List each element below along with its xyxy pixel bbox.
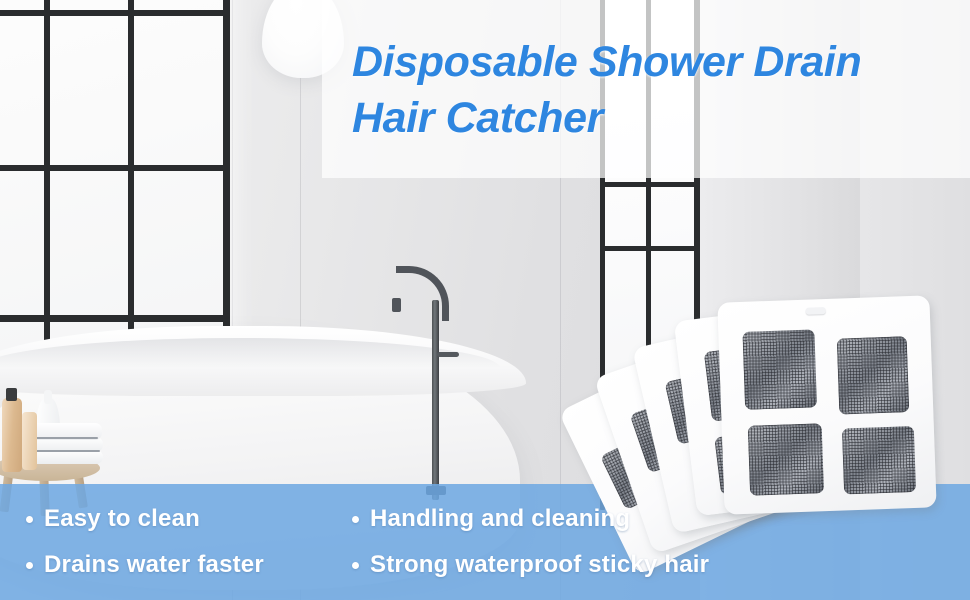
window-mullion-horizontal — [0, 10, 230, 16]
bullet-dot-icon — [352, 562, 359, 569]
window-mullion-horizontal — [0, 165, 230, 171]
vase-neck — [44, 390, 52, 404]
toiletry-bottle-cap — [6, 388, 17, 401]
feature-item: Handling and cleaning — [352, 505, 952, 533]
feature-item: Drains water faster — [26, 551, 338, 579]
window-mullion-horizontal — [0, 315, 230, 322]
window-mullion-horizontal — [600, 182, 700, 187]
product-banner: Disposable Shower Drain Hair Catcher — [0, 0, 970, 600]
toiletry-bottle — [22, 412, 37, 470]
bullet-dot-icon — [26, 516, 33, 523]
window-mullion-horizontal — [600, 246, 700, 251]
feature-list: Easy to clean Drains water faster Handli… — [0, 484, 970, 600]
feature-item: Easy to clean — [26, 505, 338, 533]
toiletry-bottle — [2, 398, 22, 472]
feature-column-right: Handling and cleaning Strong waterproof … — [338, 484, 952, 600]
hair-catcher-sheet — [717, 295, 936, 514]
page-title: Disposable Shower Drain Hair Catcher — [352, 34, 952, 146]
feature-column-left: Easy to clean Drains water faster — [0, 484, 338, 600]
bullet-dot-icon — [26, 562, 33, 569]
feature-label: Drains water faster — [44, 551, 264, 579]
window-left — [0, 0, 230, 370]
bullet-dot-icon — [352, 516, 359, 523]
feature-item: Strong waterproof sticky hair — [352, 551, 952, 579]
peel-tab — [806, 307, 826, 315]
faucet-handle — [437, 352, 459, 357]
feature-label: Easy to clean — [44, 505, 200, 533]
feature-label: Handling and cleaning — [370, 505, 630, 533]
faucet-spout — [392, 298, 401, 312]
feature-label: Strong waterproof sticky hair — [370, 551, 709, 579]
mesh-patch — [837, 336, 910, 414]
mesh-patch — [742, 329, 817, 409]
faucet-post — [432, 300, 439, 500]
